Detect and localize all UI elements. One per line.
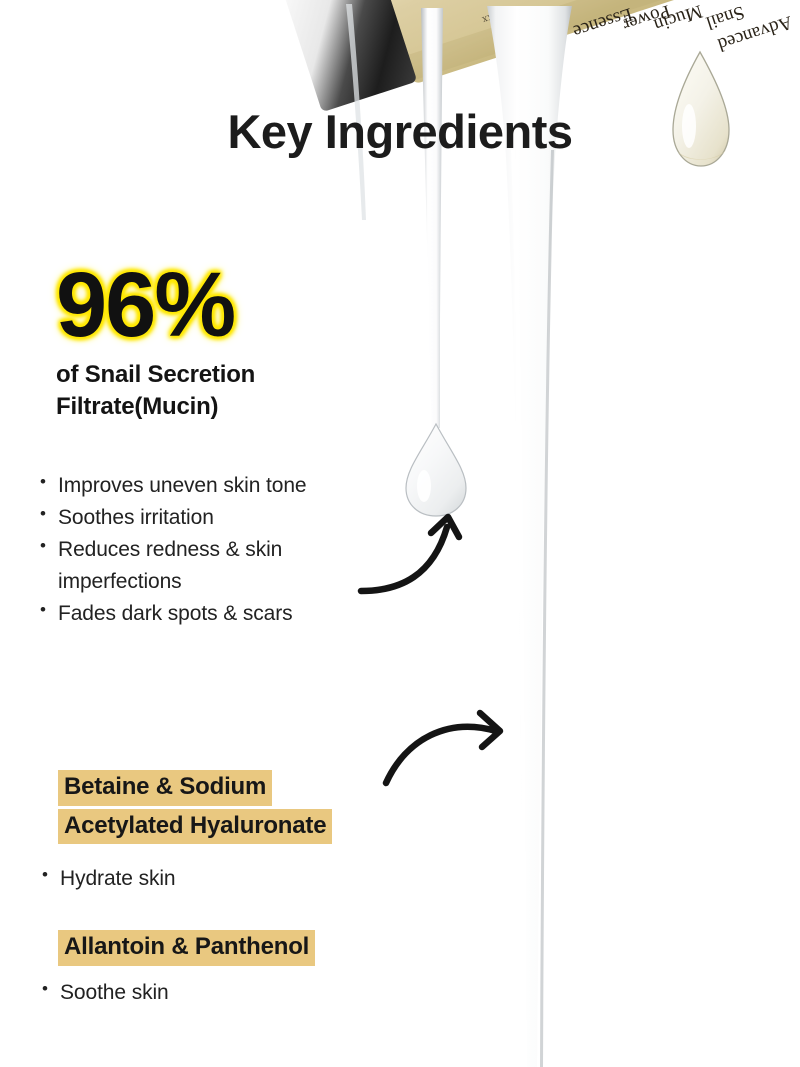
svg-text:Essence: Essence — [570, 3, 635, 42]
hero-subtitle: of Snail Secretion Filtrate(Mucin) — [56, 359, 255, 422]
svg-text:Advanced: Advanced — [715, 11, 795, 55]
serum-bottle — [364, 0, 800, 85]
svg-text:Mucin: Mucin — [651, 0, 705, 35]
liquid-drip-thread — [421, 8, 443, 428]
list-item: Reduces redness & skin imperfections — [36, 534, 396, 598]
hero-stat: 96% of Snail Secretion Filtrate(Mucin) — [56, 262, 255, 423]
allantoin-benefits-list: Soothe skin — [38, 977, 338, 1009]
list-item: Hydrate skin — [38, 863, 338, 895]
list-item: Soothe skin — [38, 977, 338, 1009]
hero-subtitle-line-2: Filtrate(Mucin) — [56, 391, 255, 423]
ingredient-heading-line: Acetylated Hyaluronate — [58, 809, 332, 845]
ingredient-heading-line: Betaine & Sodium — [58, 770, 272, 806]
svg-text:Snail: Snail — [703, 1, 747, 33]
liquid-teardrop-falling — [406, 424, 466, 516]
list-item: Fades dark spots & scars — [36, 598, 396, 630]
page-title: Key Ingredients — [0, 104, 800, 159]
ingredient-group-allantoin: Allantoin & Panthenol — [58, 930, 315, 969]
bottle-label-text: Advanced Snail Mucin Power Essence xx xx — [480, 0, 795, 55]
ingredient-group-betaine: Betaine & Sodium Acetylated Hyaluronate — [58, 770, 332, 847]
svg-text:xx: xx — [518, 13, 533, 28]
svg-text:xx: xx — [480, 11, 495, 26]
list-item: Improves uneven skin tone — [36, 470, 396, 502]
mucin-benefits-list: Improves uneven skin tone Soothes irrita… — [36, 470, 396, 630]
arrow-up-icon — [355, 505, 485, 615]
key-ingredients-infographic: Advanced Snail Mucin Power Essence xx xx… — [0, 0, 800, 1067]
hero-subtitle-line-1: of Snail Secretion — [56, 359, 255, 391]
svg-text:Power: Power — [620, 0, 673, 35]
list-item: Soothes irritation — [36, 502, 396, 534]
liquid-stream-main — [487, 6, 572, 1067]
betaine-benefits-list: Hydrate skin — [38, 863, 338, 895]
hero-percentage: 96% — [56, 262, 255, 349]
bottle-cap — [274, 0, 417, 112]
ingredient-heading-line: Allantoin & Panthenol — [58, 930, 315, 966]
arrow-right-icon — [380, 705, 525, 805]
